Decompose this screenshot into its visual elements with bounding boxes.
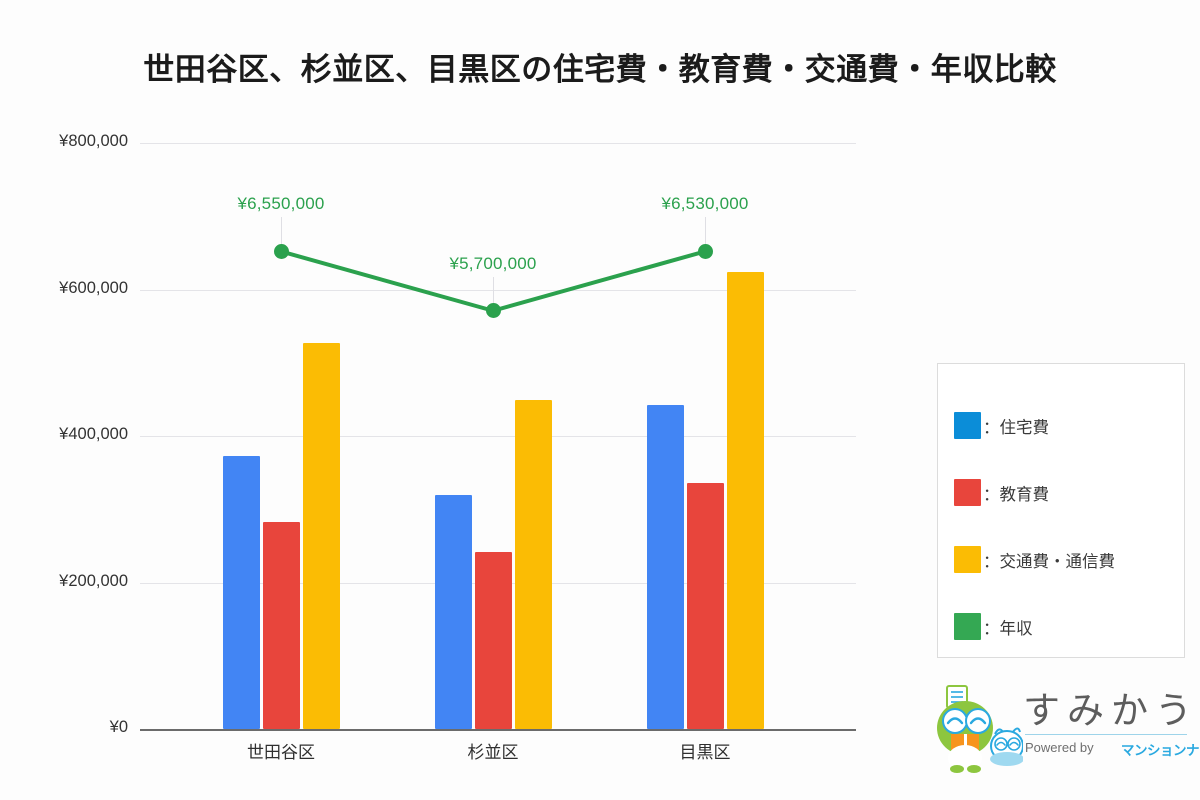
x-axis-tick-label: 杉並区 — [468, 738, 519, 763]
legend-item-2[interactable]: ：教育費 — [938, 459, 1184, 526]
y-axis-tick-label: ¥200,000 — [0, 572, 128, 591]
bar-transport[interactable] — [303, 343, 340, 729]
bar-education[interactable] — [687, 483, 724, 729]
logo-powered-by: Powered by — [1025, 740, 1094, 755]
bar-education[interactable] — [475, 552, 512, 729]
legend-item-4[interactable]: ：年収 — [938, 593, 1184, 660]
legend-swatch-icon — [954, 546, 981, 573]
legend-swatch-icon — [954, 479, 981, 506]
y-axis-tick-label: ¥400,000 — [0, 425, 128, 444]
legend-item-1[interactable]: ：住宅費 — [938, 392, 1184, 459]
legend-item-label: ：教育費 — [983, 481, 1049, 505]
legend-item-label: ：住宅費 — [983, 414, 1049, 438]
mascot-icon — [935, 682, 1023, 774]
legend-item-label: ：交通費・通信費 — [983, 548, 1115, 572]
logo-wordmark: すみかうる — [1023, 680, 1200, 734]
bar-education[interactable] — [263, 522, 300, 729]
logo: すみかうる Powered by マンションナビ — [935, 678, 1190, 783]
bar-housing[interactable] — [647, 405, 684, 729]
plot-area — [140, 143, 856, 729]
y-axis-tick-label: ¥800,000 — [0, 132, 128, 151]
legend-swatch-icon — [954, 412, 981, 439]
legend: ：住宅費：教育費：交通費・通信費：年収 — [937, 363, 1185, 658]
y-axis-tick-label: ¥600,000 — [0, 279, 128, 298]
gridline — [140, 143, 856, 144]
legend-swatch-icon — [954, 613, 981, 640]
y-axis-tick-label: ¥0 — [0, 718, 128, 737]
bar-housing[interactable] — [223, 456, 260, 729]
logo-brand-name: マンションナビ — [1121, 739, 1200, 759]
legend-item-3[interactable]: ：交通費・通信費 — [938, 526, 1184, 593]
bar-housing[interactable] — [435, 495, 472, 729]
x-axis-tick-label: 世田谷区 — [247, 738, 315, 763]
legend-item-label: ：年収 — [983, 615, 1033, 639]
x-axis-line — [140, 729, 856, 731]
bar-transport[interactable] — [515, 400, 552, 729]
page-title: 世田谷区、杉並区、目黒区の住宅費・教育費・交通費・年収比較 — [0, 44, 1200, 89]
bar-transport[interactable] — [727, 272, 764, 729]
x-axis-tick-label: 目黒区 — [680, 738, 731, 763]
chart-page: 世田谷区、杉並区、目黒区の住宅費・教育費・交通費・年収比較 ¥0¥200,000… — [0, 0, 1200, 800]
logo-divider — [1025, 734, 1187, 735]
